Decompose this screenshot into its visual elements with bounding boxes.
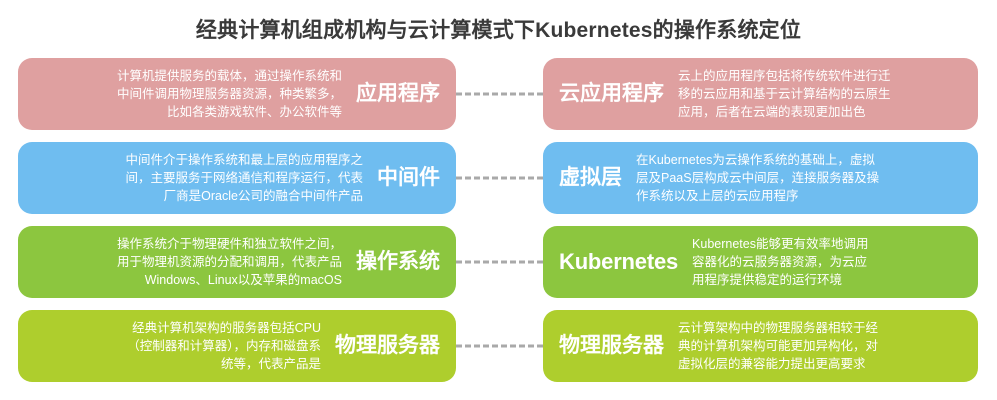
classic-description-application: 计算机提供服务的载体，通过操作系统和 中间件调用物理服务器资源，种类繁多， 比如… <box>117 67 350 121</box>
classic-card-physical-server[interactable]: 经典计算机架构的服务器包括CPU （控制器和计算器），内存和磁盘系 统等，代表产… <box>18 310 456 382</box>
dashed-line-icon <box>456 261 543 264</box>
dashed-line-icon <box>456 345 543 348</box>
classic-card-middleware[interactable]: 中间件介于操作系统和最上层的应用程序之 间，主要服务于网络通信和程序运行，代表 … <box>18 142 456 214</box>
cloud-label-application: 云应用程序 <box>557 82 670 106</box>
page-title: 经典计算机组成机构与云计算模式下Kubernetes的操作系统定位 <box>0 0 997 43</box>
cloud-label-middleware: 虚拟层 <box>557 166 628 190</box>
cloud-description-physical-server: 云计算架构中的物理服务器相较于经 典的计算机架构可能更加异构化，对 虚拟化层的兼… <box>670 319 878 373</box>
classic-label-application: 应用程序 <box>350 82 442 106</box>
layer-comparison-diagram: 计算机提供服务的载体，通过操作系统和 中间件调用物理服务器资源，种类繁多， 比如… <box>0 58 997 394</box>
classic-label-operating-system: 操作系统 <box>350 250 442 274</box>
dashed-line-icon <box>456 177 543 180</box>
classic-card-operating-system[interactable]: 操作系统介于物理硬件和独立软件之间， 用于物理机资源的分配和调用，代表产品 Wi… <box>18 226 456 298</box>
diagram-row-application: 计算机提供服务的载体，通过操作系统和 中间件调用物理服务器资源，种类繁多， 比如… <box>0 58 997 130</box>
cloud-description-operating-system: Kubernetes能够更有效率地调用 容器化的云服务器资源，为云应 用程序提供… <box>684 235 868 289</box>
cloud-label-physical-server: 物理服务器 <box>557 334 670 358</box>
classic-description-middleware: 中间件介于操作系统和最上层的应用程序之 间，主要服务于网络通信和程序运行，代表 … <box>125 151 371 205</box>
classic-description-physical-server: 经典计算机架构的服务器包括CPU （控制器和计算器），内存和磁盘系 统等，代表产… <box>127 319 329 373</box>
cloud-description-application: 云上的应用程序包括将传统软件进行迁 移的云应用和基于云计算结构的云原生 应用，后… <box>670 67 891 121</box>
connector-physical-server <box>456 310 543 382</box>
connector-middleware <box>456 142 543 214</box>
cloud-label-operating-system: Kubernetes <box>557 249 684 274</box>
cloud-card-application[interactable]: 云应用程序云上的应用程序包括将传统软件进行迁 移的云应用和基于云计算结构的云原生… <box>543 58 978 130</box>
diagram-row-operating-system: 操作系统介于物理硬件和独立软件之间， 用于物理机资源的分配和调用，代表产品 Wi… <box>0 226 997 298</box>
dashed-line-icon <box>456 93 543 96</box>
connector-application <box>456 58 543 130</box>
classic-label-physical-server: 物理服务器 <box>329 334 442 358</box>
classic-label-middleware: 中间件 <box>371 166 442 190</box>
cloud-card-operating-system[interactable]: KubernetesKubernetes能够更有效率地调用 容器化的云服务器资源… <box>543 226 978 298</box>
diagram-row-physical-server: 经典计算机架构的服务器包括CPU （控制器和计算器），内存和磁盘系 统等，代表产… <box>0 310 997 382</box>
classic-card-application[interactable]: 计算机提供服务的载体，通过操作系统和 中间件调用物理服务器资源，种类繁多， 比如… <box>18 58 456 130</box>
cloud-card-middleware[interactable]: 虚拟层在Kubernetes为云操作系统的基础上，虚拟 层及PaaS层构成云中间… <box>543 142 978 214</box>
cloud-card-physical-server[interactable]: 物理服务器云计算架构中的物理服务器相较于经 典的计算机架构可能更加异构化，对 虚… <box>543 310 978 382</box>
diagram-row-middleware: 中间件介于操作系统和最上层的应用程序之 间，主要服务于网络通信和程序运行，代表 … <box>0 142 997 214</box>
cloud-description-middleware: 在Kubernetes为云操作系统的基础上，虚拟 层及PaaS层构成云中间层，连… <box>628 151 879 205</box>
connector-operating-system <box>456 226 543 298</box>
classic-description-operating-system: 操作系统介于物理硬件和独立软件之间， 用于物理机资源的分配和调用，代表产品 Wi… <box>117 235 350 289</box>
